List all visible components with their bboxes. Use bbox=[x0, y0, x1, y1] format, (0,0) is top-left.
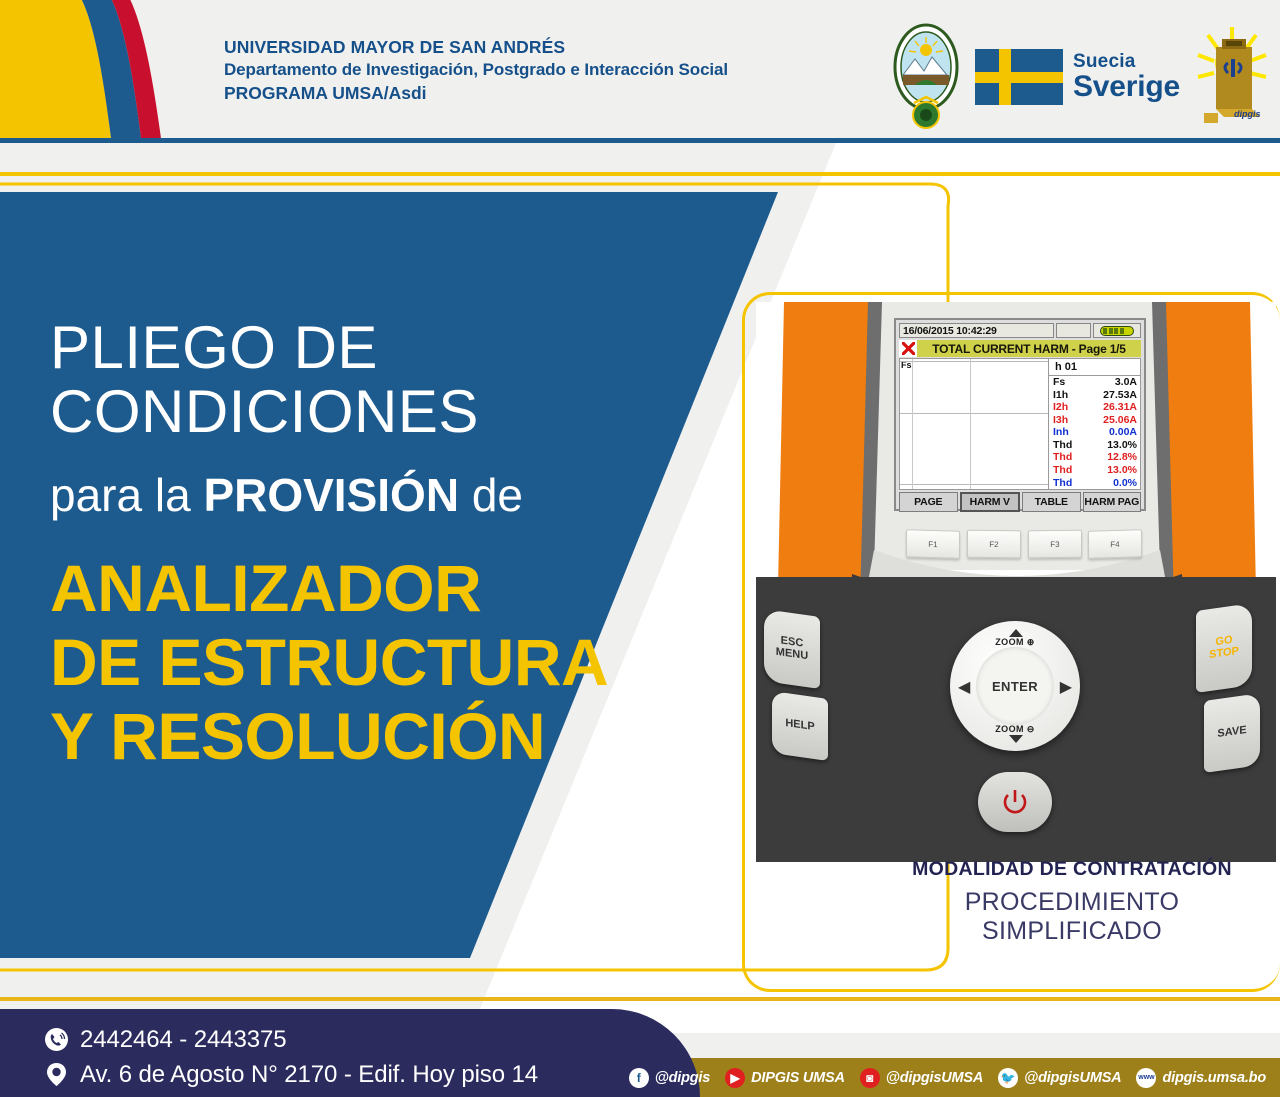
reading-key: Thd bbox=[1053, 440, 1083, 451]
hero-text-block: PLIEGO DE CONDICIONES para la PROVISIÓN … bbox=[50, 316, 830, 774]
university-name: UNIVERSIDAD MAYOR DE SAN ANDRÉS bbox=[224, 36, 728, 59]
hero-subtitle: para la PROVISIÓN de bbox=[50, 468, 830, 522]
reading-key: I1h bbox=[1053, 390, 1083, 401]
function-key-f3[interactable]: F3 bbox=[1028, 530, 1082, 559]
location-pin-icon bbox=[44, 1062, 69, 1087]
hero-title-line2: CONDICIONES bbox=[50, 380, 830, 444]
softkey-harm-v[interactable]: HARM V bbox=[960, 492, 1021, 512]
power-quality-analyzer-device: 16/06/2015 10:42:29 TOTAL CURRENT HARM -… bbox=[756, 302, 1276, 862]
social-label: @dipgis bbox=[655, 1070, 710, 1086]
arrow-right-icon[interactable]: ▶ bbox=[1060, 677, 1072, 697]
hero-subtitle-pre: para la bbox=[50, 469, 203, 521]
reading-value: 0.00A bbox=[1083, 427, 1137, 438]
reading-value: 12.8% bbox=[1083, 452, 1137, 463]
arrow-up-icon[interactable] bbox=[1009, 629, 1023, 637]
hero-headline: ANALIZADOR DE ESTRUCTURA Y RESOLUCIÓN bbox=[50, 552, 830, 774]
device-screen: 16/06/2015 10:42:29 TOTAL CURRENT HARM -… bbox=[894, 318, 1146, 511]
readings-list: Fs3.0AI1h27.53AI2h26.31AI3h25.06AInh0.00… bbox=[1049, 376, 1140, 489]
social-label: @dipgisUMSA bbox=[886, 1070, 983, 1086]
reading-key: Fs bbox=[1053, 377, 1083, 388]
chart-bars bbox=[913, 361, 1046, 435]
hero-headline-line2: DE ESTRUCTURA bbox=[50, 626, 830, 700]
social-link-website[interactable]: wwwdipgis.umsa.bo bbox=[1136, 1068, 1266, 1088]
youtube-icon: ▶ bbox=[725, 1068, 745, 1088]
softkey-page[interactable]: PAGE bbox=[899, 492, 958, 512]
reading-row: Thd13.0% bbox=[1049, 439, 1140, 452]
hero-headline-line3: Y RESOLUCIÓN bbox=[50, 700, 830, 774]
function-key-f1[interactable]: F1 bbox=[906, 529, 960, 559]
contracting-mode-title: MODALIDAD DE CONTRATACIÓN bbox=[882, 858, 1262, 881]
reading-row: Thd12.8% bbox=[1049, 451, 1140, 464]
reading-value: 25.06A bbox=[1083, 415, 1137, 426]
reading-row: I3h25.06A bbox=[1049, 414, 1140, 427]
softkey-table[interactable]: TABLE bbox=[1022, 492, 1081, 512]
stop-label: STOP bbox=[1209, 645, 1239, 661]
reading-key: Thd bbox=[1053, 452, 1083, 463]
poster-root: UNIVERSIDAD MAYOR DE SAN ANDRÉS Departam… bbox=[0, 0, 1280, 1097]
close-icon[interactable] bbox=[899, 340, 917, 357]
power-button[interactable] bbox=[978, 772, 1052, 832]
department-name: Departamento de Investigación, Postgrado… bbox=[224, 59, 728, 81]
reading-row: Fs3.0A bbox=[1049, 376, 1140, 389]
hero-subtitle-strong: PROVISIÓN bbox=[203, 469, 459, 521]
contact-phone-row: 2442464 - 2443375 bbox=[44, 1022, 538, 1057]
social-label: dipgis.umsa.bo bbox=[1162, 1070, 1266, 1086]
header: UNIVERSIDAD MAYOR DE SAN ANDRÉS Departam… bbox=[0, 0, 1280, 143]
contracting-mode-line1: PROCEDIMIENTO bbox=[882, 888, 1262, 917]
social-link-twitter[interactable]: 🐦@dipgisUMSA bbox=[998, 1068, 1121, 1088]
header-institution-block: UNIVERSIDAD MAYOR DE SAN ANDRÉS Departam… bbox=[224, 36, 728, 105]
reading-value: 26.31A bbox=[1083, 402, 1137, 413]
sweden-label-sv: Sverige bbox=[1073, 72, 1180, 102]
contracting-mode-block: MODALIDAD DE CONTRATACIÓN PROCEDIMIENTO … bbox=[882, 858, 1262, 946]
contact-address-row: Av. 6 de Agosto N° 2170 - Edif. Hoy piso… bbox=[44, 1057, 538, 1092]
contact-phone: 2442464 - 2443375 bbox=[80, 1026, 287, 1054]
function-key-f2[interactable]: F2 bbox=[967, 530, 1021, 559]
sweden-label-es: Suecia bbox=[1073, 52, 1180, 71]
arrow-left-icon[interactable]: ◀ bbox=[958, 677, 970, 697]
screen-titlebar: TOTAL CURRENT HARM - Page 1/5 bbox=[899, 340, 1141, 357]
social-link-youtube[interactable]: ▶DIPGIS UMSA bbox=[725, 1068, 845, 1088]
arrow-down-icon[interactable] bbox=[1009, 735, 1023, 743]
navigation-ring[interactable]: ZOOM ⊕ ◀ ▶ ENTER ZOOM ⊖ bbox=[950, 621, 1080, 751]
bolivia-flag-swoosh-icon bbox=[0, 0, 230, 143]
dipgis-logo-icon: dipgis bbox=[1194, 25, 1270, 129]
battery-icon bbox=[1100, 326, 1134, 336]
function-key-row: F1F2F3F4 bbox=[906, 530, 1142, 558]
phone-icon bbox=[44, 1027, 69, 1052]
go-stop-button[interactable]: GOSTOP bbox=[1196, 603, 1252, 693]
function-key-f4[interactable]: F4 bbox=[1088, 529, 1142, 559]
battery-indicator bbox=[1093, 323, 1141, 338]
harmonic-selector[interactable]: h 01 bbox=[1049, 359, 1140, 376]
twitter-icon: 🐦 bbox=[998, 1068, 1018, 1088]
reading-value: 3.0A bbox=[1083, 377, 1137, 388]
reading-value: 13.0% bbox=[1083, 440, 1137, 451]
power-icon bbox=[1000, 787, 1030, 817]
social-link-instagram[interactable]: ◙@dipgisUMSA bbox=[860, 1068, 983, 1088]
softkey-harm-pag[interactable]: HARM PAG bbox=[1083, 492, 1142, 512]
bottom-accent-rule bbox=[0, 997, 1280, 1001]
program-name: PROGRAMA UMSA/Asdi bbox=[224, 82, 728, 105]
enter-button[interactable]: ENTER bbox=[976, 647, 1054, 725]
hero-title-line1: PLIEGO DE bbox=[50, 316, 830, 380]
enter-label: ENTER bbox=[992, 679, 1038, 694]
social-link-facebook[interactable]: f@dipgis bbox=[629, 1068, 710, 1088]
screen-status-blank bbox=[1056, 323, 1091, 338]
reading-row: Thd0.0% bbox=[1049, 477, 1140, 490]
reading-value: 13.0% bbox=[1083, 465, 1137, 476]
save-button[interactable]: SAVE bbox=[1204, 693, 1260, 773]
reading-key: I2h bbox=[1053, 402, 1083, 413]
header-logos: Suecia Sverige dipgis bbox=[891, 22, 1270, 132]
instagram-icon: ◙ bbox=[860, 1068, 880, 1088]
hero-subtitle-post: de bbox=[459, 469, 523, 521]
harmonics-bar-chart: Fs bbox=[899, 358, 1049, 490]
screen-content: Fs h 01 Fs3.0AI1h27.53AI2h26.31AI3h25.06… bbox=[899, 358, 1141, 490]
facebook-icon: f bbox=[629, 1068, 649, 1088]
contact-block: 2442464 - 2443375 Av. 6 de Agosto N° 217… bbox=[44, 1022, 538, 1092]
reading-key: Thd bbox=[1053, 478, 1083, 489]
readings-panel: h 01 Fs3.0AI1h27.53AI2h26.31AI3h25.06AIn… bbox=[1049, 358, 1141, 490]
reading-key: I3h bbox=[1053, 415, 1083, 426]
reading-row: Thd13.0% bbox=[1049, 464, 1140, 477]
device-keypad: ESCMENU HELP GOSTOP SAVE ZOOM ⊕ ◀ ▶ ENTE… bbox=[756, 577, 1276, 862]
sweden-logo: Suecia Sverige bbox=[975, 49, 1180, 105]
contact-address: Av. 6 de Agosto N° 2170 - Edif. Hoy piso… bbox=[80, 1061, 538, 1089]
reading-row: Inh0.00A bbox=[1049, 426, 1140, 439]
save-label: SAVE bbox=[1217, 725, 1246, 741]
reading-row: I2h26.31A bbox=[1049, 401, 1140, 414]
reading-row: I1h27.53A bbox=[1049, 389, 1140, 402]
screen-statusbar: 16/06/2015 10:42:29 bbox=[899, 323, 1141, 338]
contracting-mode-value: PROCEDIMIENTO SIMPLIFICADO bbox=[882, 888, 1262, 946]
contracting-mode-line2: SIMPLIFICADO bbox=[882, 917, 1262, 946]
reading-value: 27.53A bbox=[1083, 390, 1137, 401]
social-label: @dipgisUMSA bbox=[1024, 1070, 1121, 1086]
hero-headline-line1: ANALIZADOR bbox=[50, 552, 830, 626]
screen-title: TOTAL CURRENT HARM - Page 1/5 bbox=[917, 340, 1141, 357]
umsa-seal-icon bbox=[891, 23, 961, 131]
website-icon: www bbox=[1136, 1068, 1156, 1088]
screen-softkey-row: PAGEHARM VTABLEHARM PAG bbox=[899, 492, 1141, 512]
reading-key: Inh bbox=[1053, 427, 1083, 438]
screen-datetime: 16/06/2015 10:42:29 bbox=[899, 323, 1054, 338]
svg-text:dipgis: dipgis bbox=[1234, 109, 1261, 119]
social-label: DIPGIS UMSA bbox=[751, 1070, 845, 1086]
social-links-row: f@dipgis▶DIPGIS UMSA◙@dipgisUMSA🐦@dipgis… bbox=[629, 1058, 1266, 1097]
zoom-out-label: ZOOM ⊖ bbox=[950, 724, 1080, 735]
sweden-flag-icon bbox=[975, 49, 1063, 105]
top-accent-rule bbox=[0, 172, 1280, 176]
reading-key: Thd bbox=[1053, 465, 1083, 476]
reading-value: 0.0% bbox=[1083, 478, 1137, 489]
